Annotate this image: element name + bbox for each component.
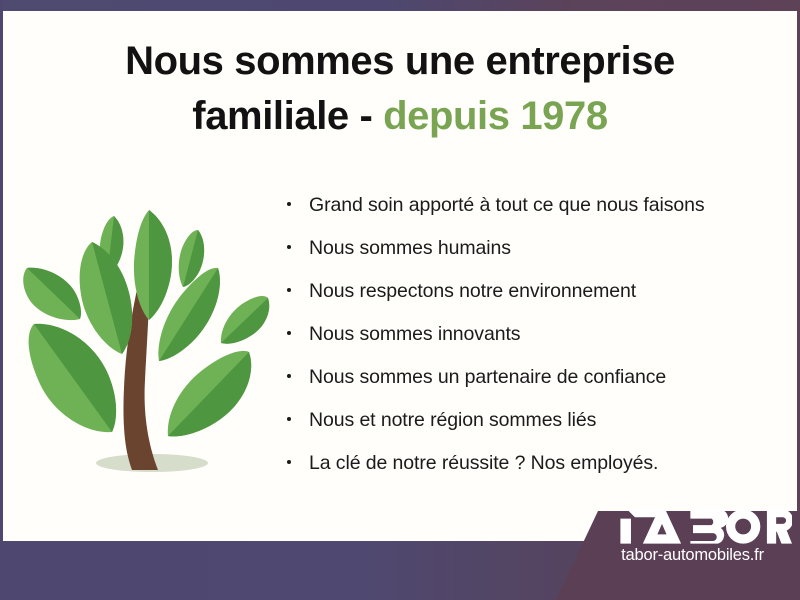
headline-line-2-plain: familiale - — [192, 94, 383, 138]
brand-logo[interactable]: tabor-automobiles.fr — [590, 508, 795, 565]
bullet-dot-icon — [287, 460, 291, 464]
bullet-dot-icon — [287, 202, 291, 206]
list-item: La clé de notre réussite ? Nos employés. — [286, 450, 766, 493]
bullet-dot-icon — [287, 417, 291, 421]
list-item-label: Nous sommes humains — [309, 237, 511, 259]
list-item: Nous respectons notre environnement — [286, 278, 766, 321]
list-item: Grand soin apporté à tout ce que nous fa… — [286, 192, 766, 235]
slide-canvas: Nous sommes une entreprise familiale - d… — [0, 0, 800, 600]
logo-tagline: tabor-automobiles.fr — [590, 546, 795, 565]
tree-leaf — [80, 242, 133, 354]
benefits-list: Grand soin apporté à tout ce que nous fa… — [286, 192, 766, 493]
tree-leaf — [23, 268, 81, 320]
list-item-label: Grand soin apporté à tout ce que nous fa… — [309, 194, 705, 216]
headline-line-2-accent: depuis 1978 — [383, 94, 608, 138]
list-item: Nous sommes humains — [286, 235, 766, 278]
bullet-dot-icon — [287, 245, 291, 249]
bullet-dot-icon — [287, 374, 291, 378]
list-item: Nous et notre région sommes liés — [286, 407, 766, 450]
slide-headline: Nous sommes une entreprise familiale - d… — [40, 34, 760, 144]
list-item-label: Nous sommes innovants — [309, 323, 520, 345]
top-border-band — [0, 0, 800, 11]
list-item-label: Nous et notre région sommes liés — [309, 409, 596, 431]
list-item: Nous sommes un partenaire de confiance — [286, 364, 766, 407]
tree-leaf — [221, 296, 269, 344]
list-item: Nous sommes innovants — [286, 321, 766, 364]
left-border-band — [0, 0, 3, 600]
bullet-dot-icon — [287, 288, 291, 292]
tree-leaf — [168, 351, 251, 437]
headline-line-1: Nous sommes une entreprise — [125, 39, 675, 83]
list-item-label: Nous respectons notre environnement — [309, 280, 636, 302]
list-item-label: Nous sommes un partenaire de confiance — [309, 366, 666, 388]
tree-illustration — [18, 182, 284, 482]
tree-icon — [18, 182, 284, 482]
bullet-dot-icon — [287, 331, 291, 335]
list-item-label: La clé de notre réussite ? Nos employés. — [309, 452, 658, 474]
tabor-wordmark-icon — [594, 508, 792, 545]
